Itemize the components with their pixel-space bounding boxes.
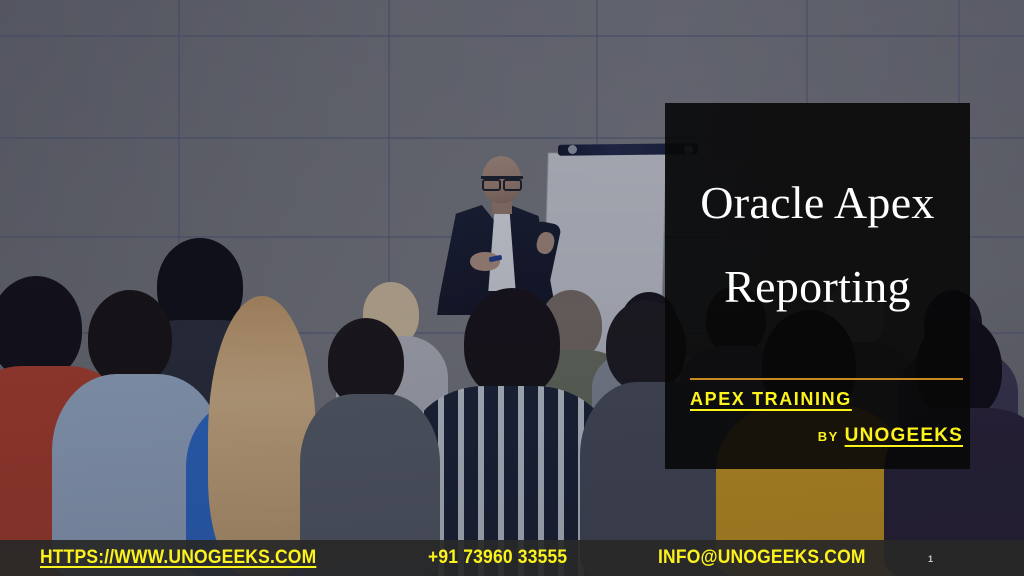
byline-prefix: BY <box>818 429 839 444</box>
page-title: Oracle Apex Reporting <box>665 161 970 329</box>
footer-phone-number: +91 73960 33555 <box>428 547 567 569</box>
wall-seam-horizontal <box>0 35 1024 37</box>
footer-bar: HTTPS://WWW.UNOGEEKS.COM +91 73960 33555… <box>0 540 1024 576</box>
byline: BYUNOGEEKS <box>818 425 963 447</box>
presentation-slide: Oracle Apex Reporting APEX TRAINING BYUN… <box>0 0 1024 576</box>
title-divider <box>690 378 963 380</box>
title-line-2: Reporting <box>679 245 956 329</box>
byline-brand: UNOGEEKS <box>845 425 963 446</box>
footer-email-address[interactable]: INFO@UNOGEEKS.COM <box>658 547 866 569</box>
page-number: 1 <box>928 554 933 564</box>
footer-website-link[interactable]: HTTPS://WWW.UNOGEEKS.COM <box>40 547 316 569</box>
presenter-glasses <box>481 176 523 187</box>
title-panel: Oracle Apex Reporting APEX TRAINING BYUN… <box>665 103 970 469</box>
flipchart-knob <box>568 145 577 154</box>
title-line-1: Oracle Apex <box>679 161 956 245</box>
subtitle-label: APEX TRAINING <box>690 389 852 410</box>
